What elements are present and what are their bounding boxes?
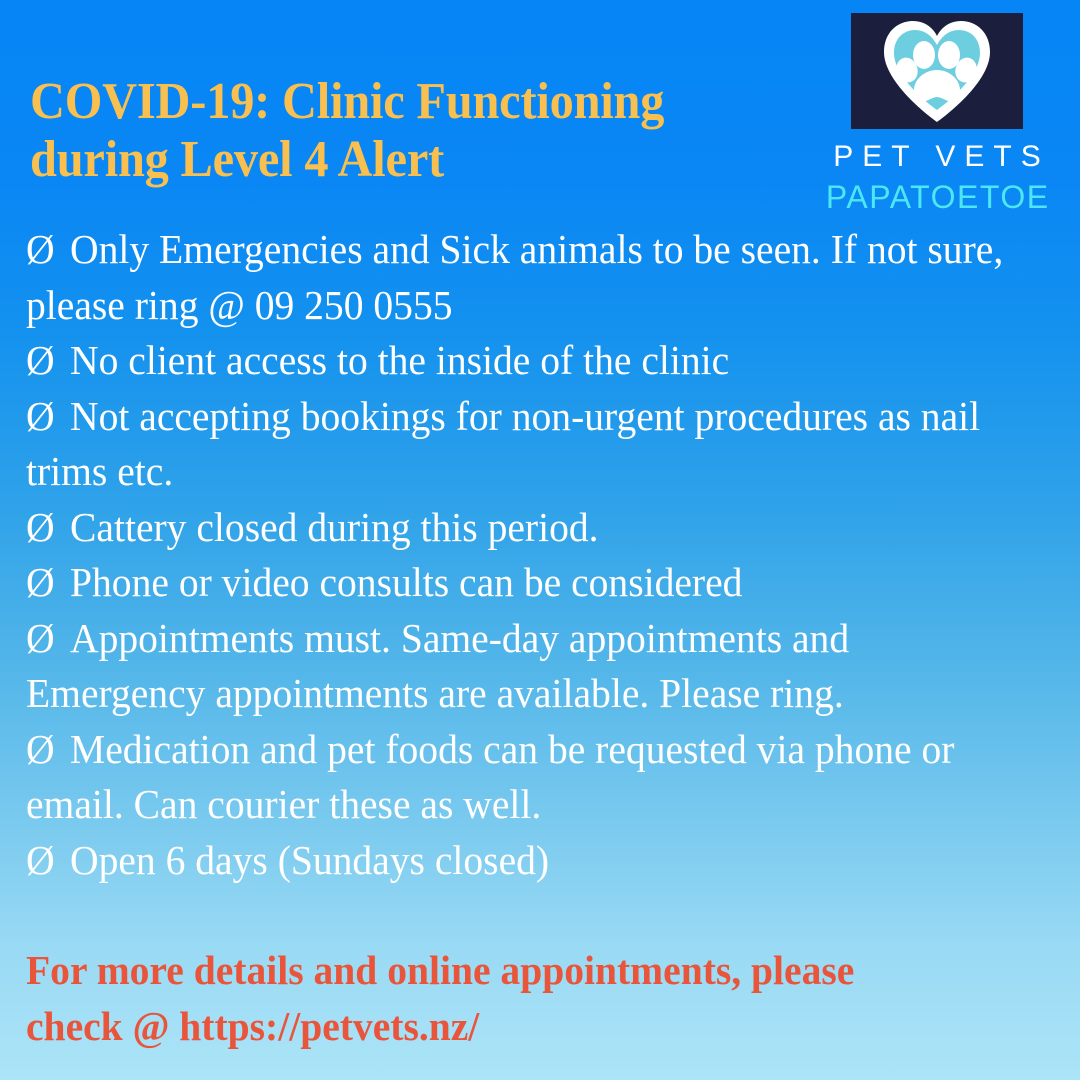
logo-wordmark-papatoetoe: PAPATOETOE: [812, 181, 1062, 213]
list-item: ØCattery closed during this period.: [26, 500, 1025, 556]
list-item-text: Only Emergencies and Sick animals to be …: [26, 226, 1003, 328]
bullet-glyph-icon: Ø: [26, 837, 70, 883]
logo-mark-panel: [851, 13, 1023, 129]
bullet-glyph-icon: Ø: [26, 393, 70, 439]
footer-line-1: For more details and online appointments…: [26, 942, 1025, 998]
bullet-glyph-icon: Ø: [26, 559, 70, 605]
page-title-line-1: COVID-19: Clinic Functioning: [30, 73, 746, 131]
list-item-text: Appointments must. Same-day appointments…: [26, 615, 849, 717]
heart-paw-logo-icon: [878, 17, 996, 125]
list-item: ØAppointments must. Same-day appointment…: [26, 611, 1025, 722]
footer-call-to-action: For more details and online appointments…: [26, 942, 1025, 1054]
list-item-text: Not accepting bookings for non-urgent pr…: [26, 393, 980, 495]
list-item-text: No client access to the inside of the cl…: [70, 337, 729, 383]
list-item-text: Medication and pet foods can be requeste…: [26, 726, 954, 828]
bullet-glyph-icon: Ø: [26, 615, 70, 661]
notice-bullet-list: ØOnly Emergencies and Sick animals to be…: [26, 222, 1025, 888]
bullet-glyph-icon: Ø: [26, 504, 70, 550]
list-item-text: Open 6 days (Sundays closed): [70, 837, 549, 883]
list-item: ØOpen 6 days (Sundays closed): [26, 833, 1025, 889]
page-title: COVID-19: Clinic Functioning during Leve…: [30, 73, 746, 189]
list-item: ØPhone or video consults can be consider…: [26, 555, 1025, 611]
bullet-glyph-icon: Ø: [26, 726, 70, 772]
list-item-text: Cattery closed during this period.: [70, 504, 599, 550]
bullet-glyph-icon: Ø: [26, 337, 70, 383]
list-item-text: Phone or video consults can be considere…: [70, 559, 742, 605]
bullet-glyph-icon: Ø: [26, 226, 70, 272]
footer-line-2[interactable]: check @ https://petvets.nz/: [26, 998, 1025, 1054]
page-title-line-2: during Level 4 Alert: [30, 131, 746, 189]
covid-notice-poster: PET VETS PAPATOETOE COVID-19: Clinic Fun…: [0, 0, 1080, 1080]
list-item: ØMedication and pet foods can be request…: [26, 722, 1025, 833]
brand-logo-block: PET VETS PAPATOETOE: [812, 13, 1062, 213]
list-item: ØNot accepting bookings for non-urgent p…: [26, 389, 1025, 500]
list-item: ØOnly Emergencies and Sick animals to be…: [26, 222, 1025, 333]
list-item: ØNo client access to the inside of the c…: [26, 333, 1025, 389]
logo-wordmark-pet-vets: PET VETS: [812, 142, 1062, 172]
